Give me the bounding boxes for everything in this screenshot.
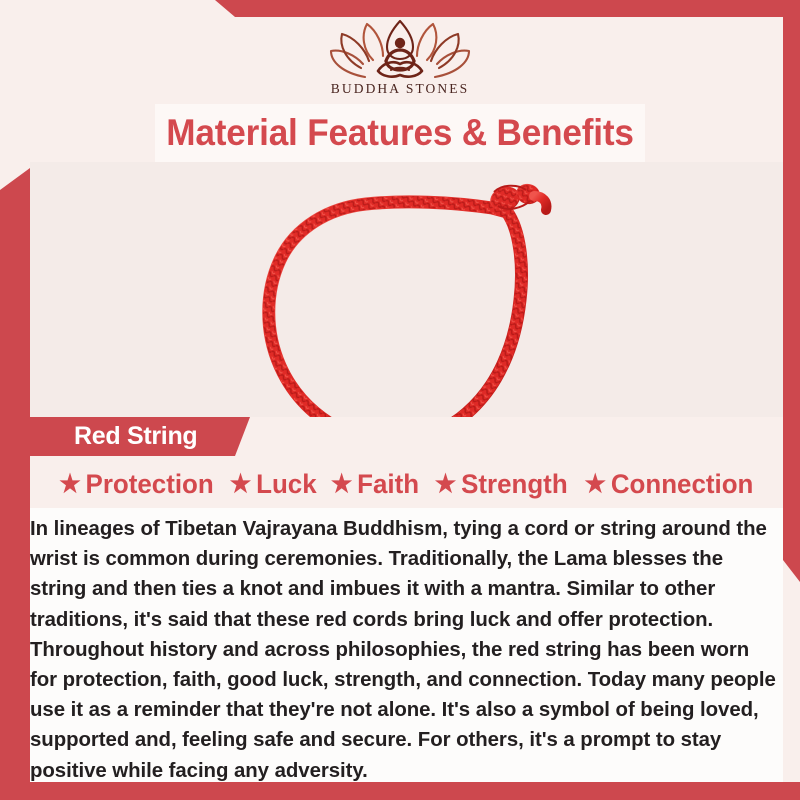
benefits-row: ★ Protection ★ Luck ★ Faith ★ Strength ★… bbox=[30, 464, 783, 504]
benefit-faith: ★ Faith bbox=[331, 469, 419, 500]
ribbon-red-string: Red String bbox=[30, 417, 250, 456]
star-icon: ★ bbox=[435, 472, 457, 497]
star-icon: ★ bbox=[229, 472, 251, 497]
benefit-protection: ★ Protection bbox=[59, 469, 214, 500]
hero-image-area bbox=[30, 162, 783, 417]
ribbon-label: Red String bbox=[74, 422, 197, 451]
red-braided-string-bracelet bbox=[262, 170, 552, 417]
page-title-text: Material Features & Benefits bbox=[166, 112, 633, 154]
brand-logo: BUDDHA STONES bbox=[0, 16, 800, 106]
description-panel: In lineages of Tibetan Vajrayana Buddhis… bbox=[30, 508, 783, 782]
star-icon: ★ bbox=[59, 472, 81, 497]
benefit-connection: ★ Connection bbox=[585, 469, 754, 500]
benefit-label: Strength bbox=[461, 469, 568, 500]
star-icon: ★ bbox=[585, 472, 607, 497]
decorative-bar-left bbox=[0, 168, 30, 783]
decorative-bar-top bbox=[215, 0, 800, 17]
lotus-meditation-icon bbox=[325, 16, 475, 79]
benefit-label: Luck bbox=[256, 469, 317, 500]
star-icon: ★ bbox=[331, 472, 353, 497]
benefit-label: Protection bbox=[85, 469, 213, 500]
benefit-luck: ★ Luck bbox=[229, 469, 316, 500]
page-title: Material Features & Benefits bbox=[155, 104, 645, 162]
benefit-strength: ★ Strength bbox=[435, 469, 568, 500]
brand-name: BUDDHA STONES bbox=[331, 81, 469, 97]
benefit-label: Faith bbox=[357, 469, 419, 500]
description-text: In lineages of Tibetan Vajrayana Buddhis… bbox=[30, 514, 778, 786]
poster-root: BUDDHA STONES Material Features & Benefi… bbox=[0, 0, 800, 800]
benefit-label: Connection bbox=[611, 469, 754, 500]
